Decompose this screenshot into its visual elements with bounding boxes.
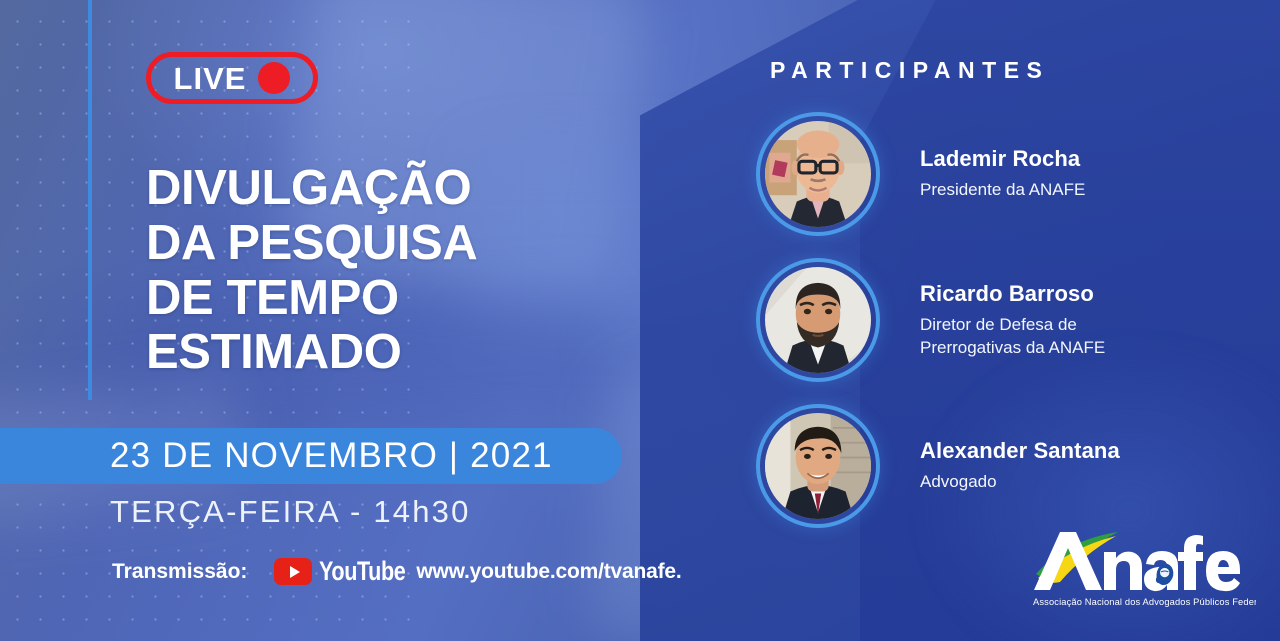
participant-item: Lademir Rocha Presidente da ANAFE	[756, 112, 1085, 236]
participant-role: Presidente da ANAFE	[920, 179, 1085, 202]
live-badge-label: LIVE	[174, 63, 247, 94]
avatar-ring	[756, 404, 880, 528]
anafe-tagline: Associação Nacional dos Advogados Públic…	[1033, 597, 1256, 607]
transmission-label: Transmissão:	[112, 560, 247, 584]
event-date: 23 DE NOVEMBRO | 2021	[110, 436, 553, 476]
participant-text: Lademir Rocha Presidente da ANAFE	[920, 146, 1085, 202]
participant-text: Alexander Santana Advogado	[920, 438, 1120, 494]
participant-item: Alexander Santana Advogado	[756, 404, 1120, 528]
avatar-ring	[756, 258, 880, 382]
anafe-logo: Associação Nacional dos Advogados Públic…	[1026, 522, 1256, 610]
participant-item: Ricardo Barroso Diretor de Defesa de Pre…	[756, 258, 1105, 382]
youtube-logo[interactable]: YouTube	[274, 556, 427, 587]
live-badge: LIVE	[146, 52, 318, 104]
transmission-row: Transmissão: YouTube www.youtube.com/tva…	[112, 556, 682, 587]
youtube-channel-url[interactable]: www.youtube.com/tvanafe.	[416, 560, 681, 584]
participant-photo-ricardo-barroso	[765, 267, 871, 373]
left-content-column: LIVE DIVULGAÇÃO DA PESQUISA DE TEMPO EST…	[0, 0, 700, 641]
page-title: DIVULGAÇÃO DA PESQUISA DE TEMPO ESTIMADO	[146, 161, 666, 381]
participant-role: Diretor de Defesa de Prerrogativas da AN…	[920, 314, 1105, 359]
participant-photo-alexander-santana	[765, 413, 871, 519]
youtube-wordmark: YouTube	[319, 556, 405, 587]
participant-photo-lademir-rocha	[765, 121, 871, 227]
participant-role: Advogado	[920, 471, 1120, 494]
youtube-play-icon	[274, 558, 312, 585]
event-weekday-time: TERÇA-FEIRA - 14h30	[110, 494, 471, 530]
participants-heading: PARTICIPANTES	[770, 57, 1049, 84]
date-pill: 23 DE NOVEMBRO | 2021	[0, 428, 622, 484]
participant-name: Alexander Santana	[920, 438, 1120, 464]
live-record-dot-icon	[258, 62, 290, 94]
participant-text: Ricardo Barroso Diretor de Defesa de Pre…	[920, 281, 1105, 360]
participant-name: Ricardo Barroso	[920, 281, 1105, 307]
participant-name: Lademir Rocha	[920, 146, 1085, 172]
event-banner: LIVE DIVULGAÇÃO DA PESQUISA DE TEMPO EST…	[0, 0, 1280, 641]
avatar-ring	[756, 112, 880, 236]
